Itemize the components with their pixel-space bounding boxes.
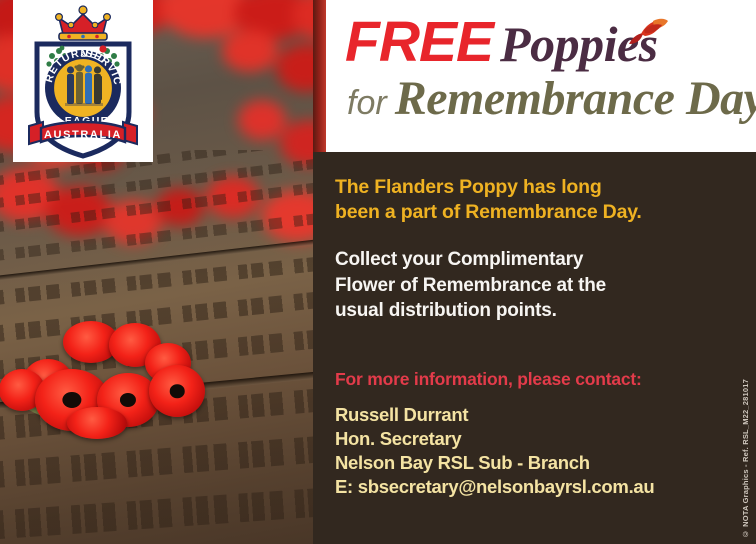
collect-line-2: Flower of Remembrance at the: [335, 273, 730, 299]
contact-organisation: Nelson Bay RSL Sub - Branch: [335, 451, 730, 475]
headline-line-2: forRemembrance Day: [345, 75, 745, 123]
contact-email[interactable]: E: sbsecretary@nelsonbayrsl.com.au: [335, 475, 730, 499]
content-panel-inner: The Flanders Poppy has long been a part …: [335, 175, 730, 499]
collect-line-3: usual distribution points.: [335, 298, 730, 324]
header-left-accent-strip: [313, 0, 326, 152]
crown: [56, 6, 111, 40]
headline-line-1: FREEPoppies: [345, 14, 745, 71]
spacer-1: [335, 225, 730, 247]
spacer-2: [335, 324, 730, 368]
headline-block: FREEPoppies forRemembrance Day: [345, 14, 745, 123]
intro-line-1: The Flanders Poppy has long: [335, 175, 730, 200]
headline-for: for: [347, 84, 387, 122]
spacer-3: [335, 391, 730, 403]
collect-line-1: Collect your Complimentary: [335, 247, 730, 273]
headline-free: FREE: [345, 10, 493, 74]
poppy-bouquet: [5, 325, 220, 445]
contact-role: Hon. Secretary: [335, 427, 730, 451]
content-panel: The Flanders Poppy has long been a part …: [313, 152, 756, 544]
svg-text:AUSTRALIA: AUSTRALIA: [44, 129, 122, 141]
poppy-flower-icon: [623, 17, 669, 49]
headline-remembrance-day: Remembrance Day: [395, 72, 756, 125]
rsl-badge-icon: RETURNED SERVICES & LEAGUE: [19, 4, 147, 165]
copyright-credit: © NOTA Graphics - Ref. RSL_M22_281017: [741, 379, 750, 538]
poster: FREEPoppies forRemembrance Day: [0, 0, 756, 544]
contact-name: Russell Durrant: [335, 403, 730, 427]
intro-line-2: been a part of Remembrance Day.: [335, 200, 730, 225]
header-banner: FREEPoppies forRemembrance Day: [313, 0, 756, 152]
rsl-badge-container: RETURNED SERVICES & LEAGUE: [13, 0, 153, 162]
contact-heading: For more information, please contact:: [335, 368, 730, 391]
svg-text:&: &: [80, 52, 85, 59]
